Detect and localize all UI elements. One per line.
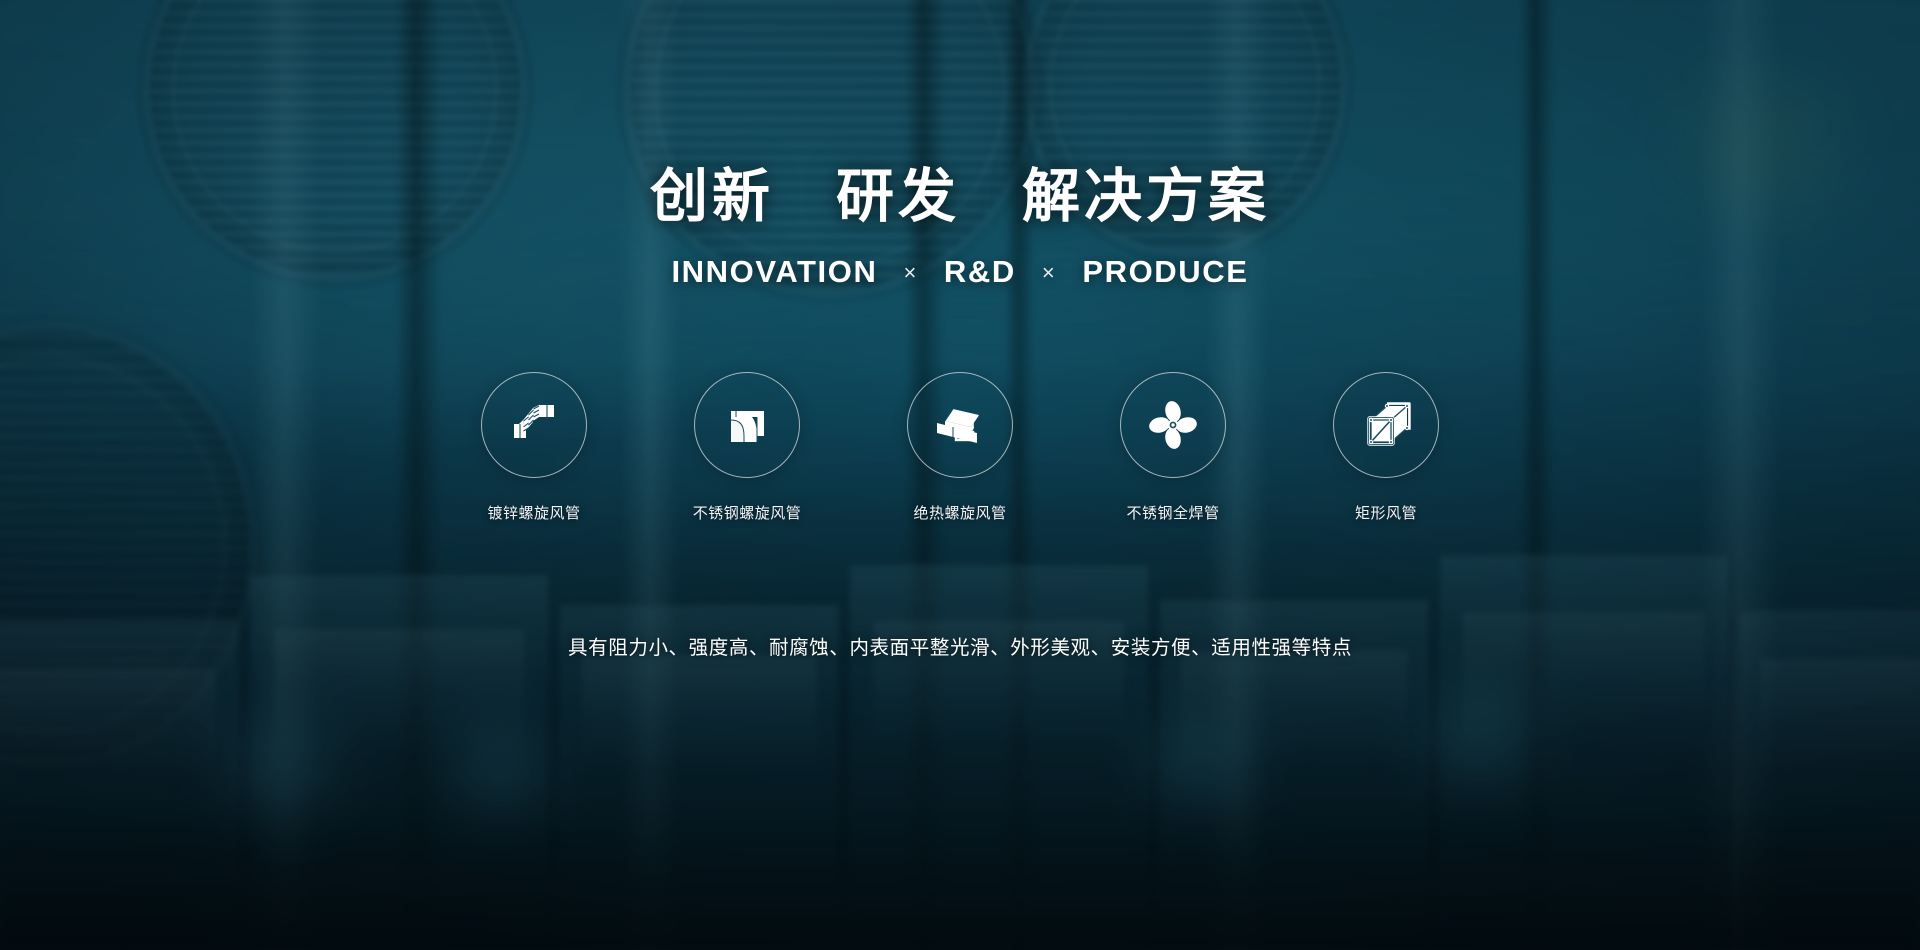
product-item-rectangular-duct[interactable]: 矩形风管	[1323, 372, 1449, 523]
rectangular-duct-icon	[1359, 398, 1413, 452]
product-icon-circle[interactable]	[694, 372, 800, 478]
hero-banner: 创新 研发 解决方案 INNOVATION × R&D × PRODUCE	[0, 0, 1920, 950]
fan-blade-icon	[1146, 398, 1200, 452]
product-icon-circle[interactable]	[1333, 372, 1439, 478]
insulated-spiral-duct-icon	[931, 397, 989, 453]
product-icon-circle[interactable]	[1120, 372, 1226, 478]
subtitle-part-innovation: INNOVATION	[671, 254, 877, 290]
subtitle-part-produce: PRODUCE	[1082, 254, 1248, 290]
product-label: 矩形风管	[1355, 502, 1417, 523]
subtitle-separator-icon: ×	[903, 260, 917, 286]
subtitle-part-rnd: R&D	[944, 254, 1016, 290]
stainless-spiral-duct-icon	[720, 398, 774, 452]
product-icon-circle[interactable]	[907, 372, 1013, 478]
banner-tagline: 具有阻力小、强度高、耐腐蚀、内表面平整光滑、外形美观、安装方便、适用性强等特点	[568, 631, 1352, 660]
product-label: 不锈钢螺旋风管	[693, 502, 802, 523]
banner-headline: 创新 研发 解决方案	[650, 168, 1270, 226]
product-label: 镀锌螺旋风管	[487, 502, 580, 523]
product-label: 绝热螺旋风管	[913, 502, 1006, 523]
product-item-insulated-spiral-duct[interactable]: 绝热螺旋风管	[897, 372, 1023, 523]
product-item-stainless-spiral-duct[interactable]: 不锈钢螺旋风管	[684, 372, 810, 523]
product-label: 不锈钢全焊管	[1126, 502, 1219, 523]
spiral-elbow-duct-icon	[506, 397, 562, 453]
subtitle-separator-icon: ×	[1042, 260, 1056, 286]
product-item-galvanized-spiral-duct[interactable]: 镀锌螺旋风管	[471, 372, 597, 523]
banner-subtitle: INNOVATION × R&D × PRODUCE	[671, 254, 1248, 290]
product-item-stainless-welded-pipe[interactable]: 不锈钢全焊管	[1110, 372, 1236, 523]
product-icon-row: 镀锌螺旋风管	[471, 372, 1449, 523]
product-icon-circle[interactable]	[481, 372, 587, 478]
banner-content: 创新 研发 解决方案 INNOVATION × R&D × PRODUCE	[0, 0, 1920, 950]
